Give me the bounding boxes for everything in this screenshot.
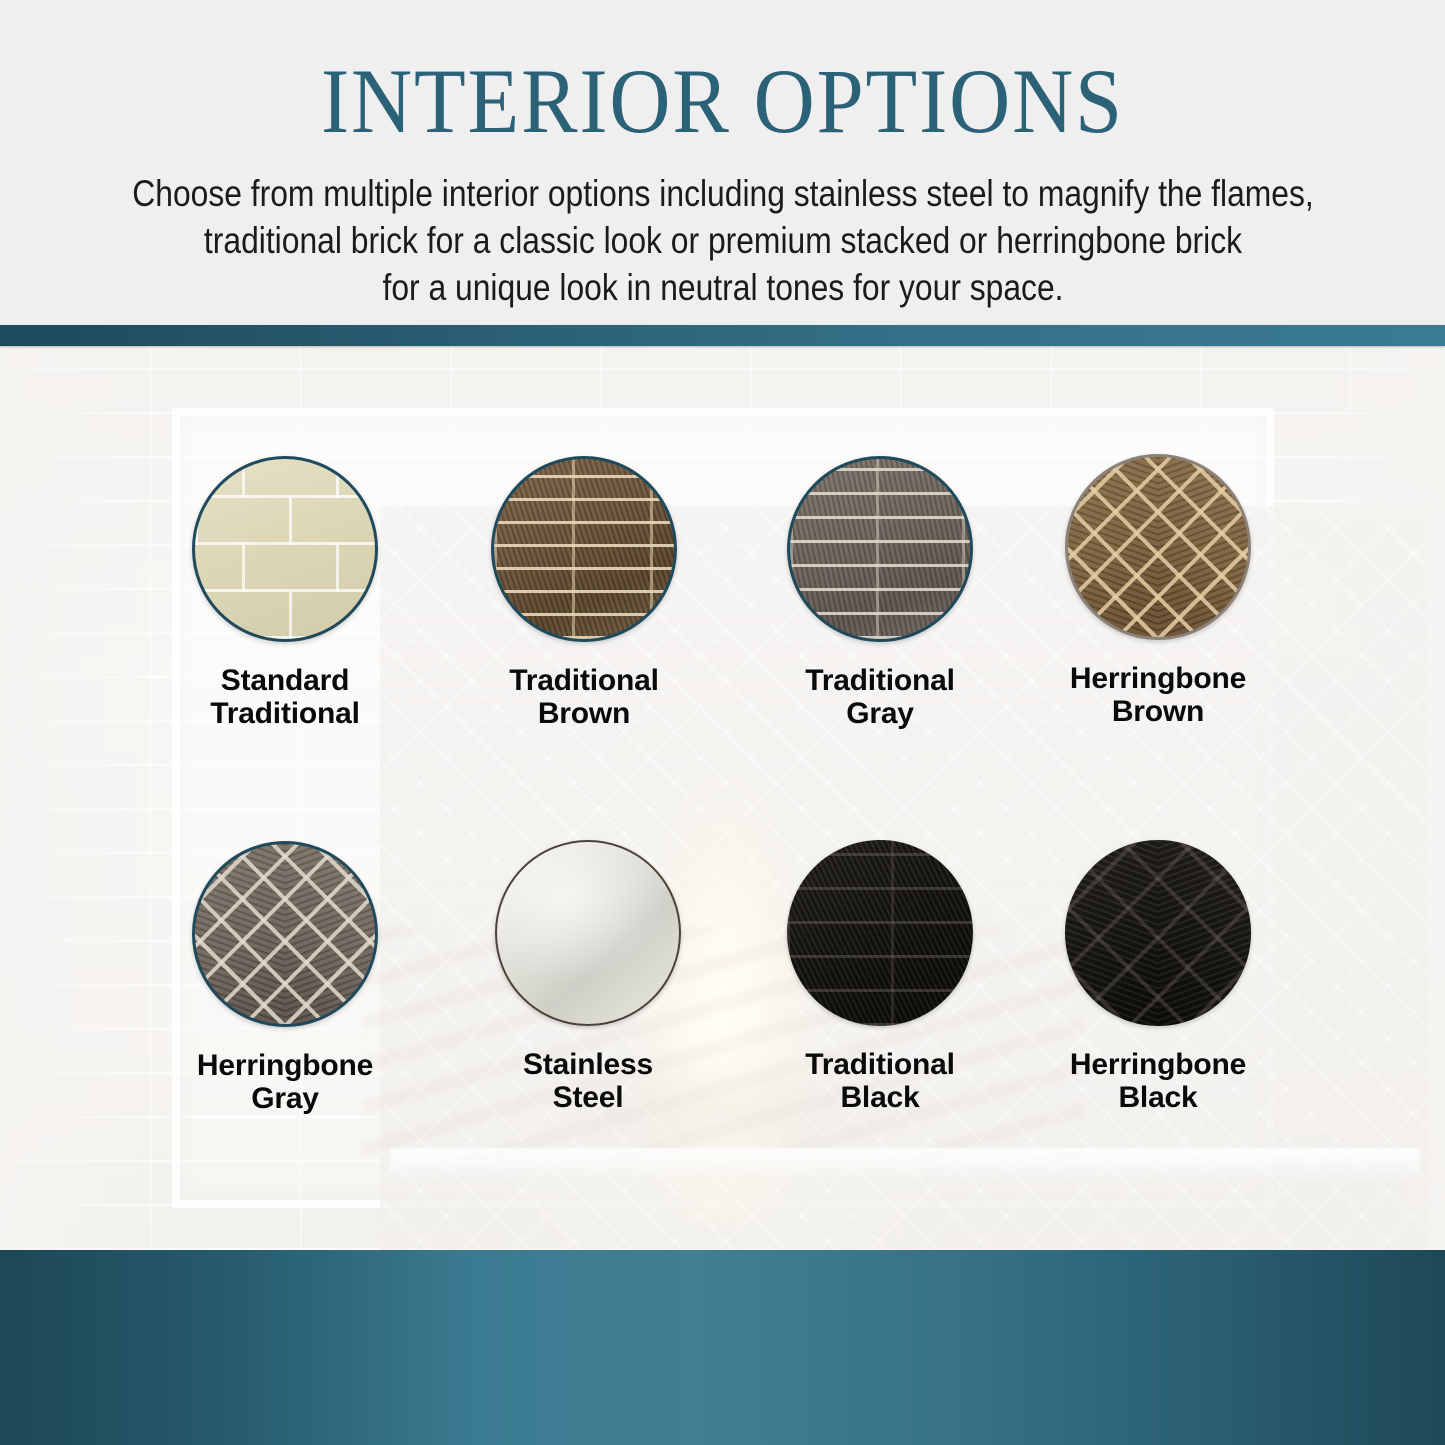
teal-divider-bar [0, 325, 1445, 346]
swatch-label-line-2: Gray [165, 1082, 405, 1115]
swatch-label-line-1: Traditional [805, 1048, 955, 1081]
swatch-label-line-1: Standard [221, 664, 349, 697]
swatch-label-traditional-black: Traditional Black [760, 1048, 1000, 1114]
swatch-label-line-1: Stainless [523, 1048, 653, 1081]
footer-teal-bar [0, 1250, 1445, 1445]
header: INTERIOR OPTIONS Choose from multiple in… [0, 0, 1445, 325]
swatch-label-traditional-gray: Traditional Gray [760, 664, 1000, 730]
subtitle-line-1: Choose from multiple interior options in… [69, 170, 1376, 217]
swatch-label-herringbone-gray: Herringbone Gray [165, 1049, 405, 1115]
swatch-label-line-2: Brown [464, 697, 704, 730]
swatch-disc-standard-traditional[interactable] [192, 456, 378, 642]
swatch-traditional-brown[interactable]: Traditional Brown [464, 456, 704, 730]
swatch-label-line-2: Traditional [165, 697, 405, 730]
page-title: INTERIOR OPTIONS [58, 55, 1387, 147]
swatch-disc-herringbone-brown[interactable] [1065, 454, 1251, 640]
subtitle-line-2: traditional brick for a classic look or … [69, 217, 1376, 264]
swatch-label-standard-traditional: Standard Traditional [165, 664, 405, 730]
swatch-label-traditional-brown: Traditional Brown [464, 664, 704, 730]
swatch-label-line-2: Black [1038, 1081, 1278, 1114]
swatch-herringbone-black[interactable]: Herringbone Black [1038, 840, 1278, 1114]
swatch-label-line-2: Brown [1038, 695, 1278, 728]
swatch-disc-traditional-black[interactable] [787, 840, 973, 1026]
swatch-disc-traditional-gray[interactable] [787, 456, 973, 642]
swatch-disc-traditional-brown[interactable] [491, 456, 677, 642]
swatch-label-herringbone-brown: Herringbone Brown [1038, 662, 1278, 728]
header-subtitle: Choose from multiple interior options in… [69, 170, 1376, 311]
swatch-label-line-1: Herringbone [1070, 1048, 1246, 1081]
swatch-label-line-1: Traditional [509, 664, 659, 697]
swatch-label-line-1: Traditional [805, 664, 955, 697]
swatch-label-line-2: Gray [760, 697, 1000, 730]
fireplace-image-panel: Standard Traditional Traditional Brown T… [0, 346, 1445, 1250]
swatch-label-line-1: Herringbone [197, 1049, 373, 1082]
swatch-disc-herringbone-gray[interactable] [192, 841, 378, 1027]
swatch-label-herringbone-black: Herringbone Black [1038, 1048, 1278, 1114]
swatch-herringbone-gray[interactable]: Herringbone Gray [165, 841, 405, 1115]
swatch-traditional-black[interactable]: Traditional Black [760, 840, 1000, 1114]
swatch-disc-stainless-steel[interactable] [495, 840, 681, 1026]
subtitle-line-3: for a unique look in neutral tones for y… [69, 264, 1376, 311]
interior-options-page: INTERIOR OPTIONS Choose from multiple in… [0, 0, 1445, 1445]
swatch-label-stainless-steel: Stainless Steel [468, 1048, 708, 1114]
swatch-herringbone-brown[interactable]: Herringbone Brown [1038, 454, 1278, 728]
swatch-grid: Standard Traditional Traditional Brown T… [0, 346, 1445, 1250]
swatch-label-line-1: Herringbone [1070, 662, 1246, 695]
swatch-stainless-steel[interactable]: Stainless Steel [468, 840, 708, 1114]
swatch-traditional-gray[interactable]: Traditional Gray [760, 456, 1000, 730]
swatch-label-line-2: Black [760, 1081, 1000, 1114]
swatch-standard-traditional[interactable]: Standard Traditional [165, 456, 405, 730]
swatch-label-line-2: Steel [468, 1081, 708, 1114]
swatch-disc-herringbone-black[interactable] [1065, 840, 1251, 1026]
